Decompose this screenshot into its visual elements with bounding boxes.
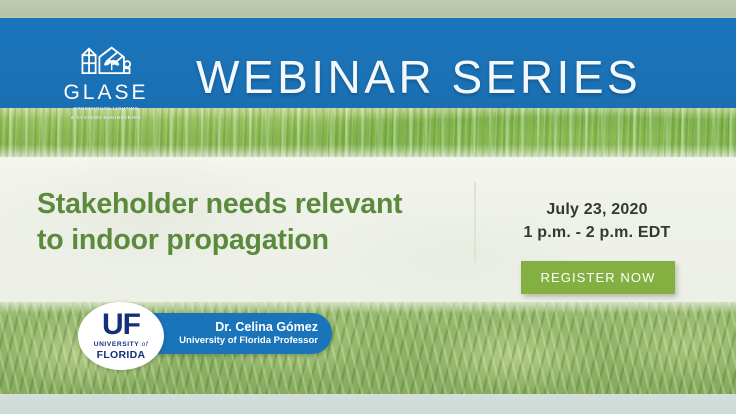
- event-date: July 23, 2020: [492, 199, 702, 222]
- speaker-role: University of Florida Professor: [179, 335, 318, 348]
- background-sky-strip: [0, 0, 736, 16]
- event-datetime: July 23, 2020 1 p.m. - 2 p.m. EDT: [492, 199, 702, 244]
- headline-line-1: Stakeholder needs relevant: [37, 186, 437, 222]
- banner-title: WEBINAR SERIES: [196, 54, 641, 100]
- uf-university-label: UNIVERSITY of: [94, 341, 149, 349]
- webinar-promo-image: GLASE GREENHOUSE LIGHTING & SYSTEMS ENGI…: [0, 0, 736, 414]
- glase-logo: GLASE GREENHOUSE LIGHTING & SYSTEMS ENGI…: [56, 42, 156, 122]
- speaker-name: Dr. Celina Gómez: [215, 320, 318, 335]
- glase-wordmark: GLASE: [63, 82, 148, 103]
- speaker-banner: Dr. Celina Gómez University of Florida P…: [150, 313, 332, 354]
- glase-tagline-line1: GREENHOUSE LIGHTING: [73, 106, 138, 113]
- uf-state-label: FLORIDA: [97, 349, 146, 361]
- glase-tagline-line2: & SYSTEMS ENGINEERING: [71, 115, 141, 122]
- university-of-florida-logo: UF UNIVERSITY of FLORIDA: [78, 302, 164, 370]
- register-now-button[interactable]: REGISTER NOW: [521, 261, 675, 294]
- headline-line-2: to indoor propagation: [37, 222, 437, 258]
- vertical-divider: [474, 182, 476, 262]
- header-banner: GLASE GREENHOUSE LIGHTING & SYSTEMS ENGI…: [0, 18, 736, 108]
- webinar-headline: Stakeholder needs relevant to indoor pro…: [37, 186, 437, 259]
- background-bottom-strip: [0, 394, 736, 414]
- greenhouse-icon: [75, 42, 137, 80]
- uf-monogram: UF: [102, 311, 140, 339]
- uf-university-text: UNIVERSITY: [94, 341, 139, 348]
- event-time: 1 p.m. - 2 p.m. EDT: [492, 222, 702, 245]
- uf-of-text: of: [142, 341, 149, 348]
